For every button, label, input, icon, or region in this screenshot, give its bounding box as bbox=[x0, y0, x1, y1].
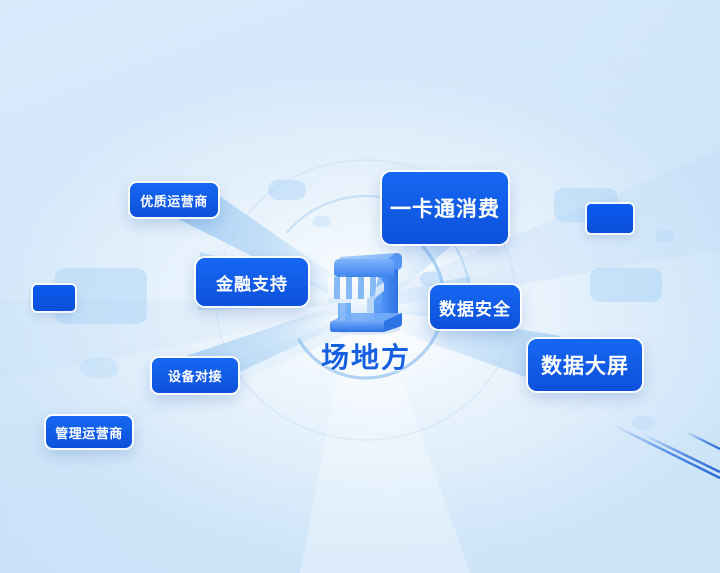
accent-line bbox=[642, 434, 720, 472]
label-shebei-duijie[interactable]: 设备对接 bbox=[152, 358, 238, 393]
label-youzhi-yunyingshang[interactable]: 优质运营商 bbox=[130, 183, 218, 217]
decor-ghost-rect bbox=[80, 358, 118, 378]
center-title: 场地方 bbox=[306, 336, 426, 376]
label-jinrong-zhichi[interactable]: 金融支持 bbox=[196, 258, 308, 306]
decor-blue-chip bbox=[33, 285, 75, 311]
label-shuju-daping[interactable]: 数据大屏 bbox=[528, 339, 642, 391]
decor-ghost-rect bbox=[268, 180, 306, 200]
decor-ghost-rect bbox=[655, 230, 675, 242]
label-yikatong-xiaofei[interactable]: 一卡通消费 bbox=[382, 172, 508, 244]
label-shuju-anquan[interactable]: 数据安全 bbox=[430, 285, 520, 329]
decor-blue-chip bbox=[587, 204, 633, 233]
decor-ghost-rect bbox=[590, 268, 662, 302]
decor-ghost-rect bbox=[420, 272, 442, 286]
infographic-canvas: 场地方 优质运营商 金融支持 设备对接 管理运营商 一卡通消费 数据安全 数据大… bbox=[0, 0, 720, 573]
accent-line bbox=[686, 432, 720, 449]
label-guanli-yunyingshang[interactable]: 管理运营商 bbox=[46, 416, 132, 448]
accent-line bbox=[613, 425, 720, 478]
decor-ghost-rect bbox=[632, 416, 654, 430]
decor-ghost-rect bbox=[313, 216, 331, 227]
shop-kiosk-icon bbox=[318, 243, 414, 339]
